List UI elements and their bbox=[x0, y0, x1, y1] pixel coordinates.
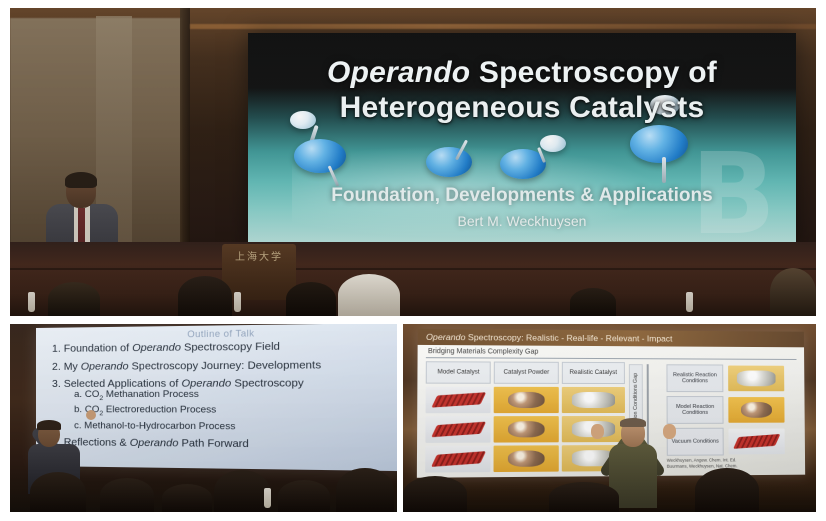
molecule-bond bbox=[662, 157, 666, 183]
grid-cell-powder bbox=[494, 445, 559, 472]
water-bottle bbox=[686, 292, 693, 312]
sub-letter: a. bbox=[74, 388, 82, 399]
slide-banner: Operando Spectroscopy: Realistic - Real-… bbox=[418, 329, 804, 348]
slide-subtitle: Foundation, Developments & Applications bbox=[248, 185, 796, 207]
condition-image-model bbox=[728, 397, 784, 423]
bottom-left-photo-outline: Outline of Talk 1. Foundation of Operand… bbox=[10, 324, 397, 512]
speaker-left-hand bbox=[591, 424, 604, 439]
speaker-hair bbox=[37, 420, 61, 430]
item-text-after: Spectroscopy Field bbox=[181, 340, 280, 353]
projection-screen-title-slide: B Operando bbox=[248, 33, 796, 245]
condition-image-realistic bbox=[728, 366, 784, 392]
item-italic: Operando bbox=[81, 360, 129, 372]
water-bottle bbox=[234, 292, 241, 312]
column-header-catalyst-powder: Catalyst Powder bbox=[494, 362, 558, 384]
audience-head bbox=[695, 468, 759, 512]
outline-sub-item-b: b. CO2 Electroreduction Process bbox=[74, 405, 397, 419]
item-number: 1. bbox=[52, 343, 61, 355]
condition-row-realistic: Realistic Reaction Conditions bbox=[666, 364, 794, 392]
wood-panelling bbox=[10, 242, 816, 316]
grid-cell-model bbox=[425, 446, 491, 473]
sub-text: Methanation Process bbox=[103, 388, 199, 399]
slide-title: Operando Spectroscopy of Heterogeneous C… bbox=[248, 55, 796, 126]
slide-title-line1-rest: Spectroscopy of bbox=[479, 56, 717, 89]
molecule-atom-large bbox=[294, 139, 346, 173]
condition-row-model: Model Reaction Conditions bbox=[667, 396, 796, 424]
bottom-right-photo-complexity-gap: Operando Spectroscopy: Realistic - Real-… bbox=[403, 324, 816, 512]
reaction-conditions-column: Realistic Reaction Conditions Model Reac… bbox=[666, 364, 795, 456]
sub-formula: CO bbox=[85, 388, 99, 399]
outline-sub-item-a: a. CO2 Methanation Process bbox=[74, 389, 397, 403]
slide-title-line2: Heterogeneous Catalysts bbox=[340, 91, 705, 124]
grid-cell-model bbox=[425, 416, 491, 443]
audience-head bbox=[162, 484, 212, 512]
lectern: 上海大学 bbox=[222, 244, 296, 300]
item-text-after: Spectroscopy Journey: Developments bbox=[129, 358, 322, 372]
item-number: 2. bbox=[52, 360, 61, 372]
projection-screen-outline-slide: Outline of Talk 1. Foundation of Operand… bbox=[36, 324, 397, 471]
condition-label-realistic: Realistic Reaction Conditions bbox=[666, 364, 723, 392]
outline-sub-item-c: c. Methanol-to-Hydrocarbon Process bbox=[74, 421, 397, 433]
wood-trim bbox=[190, 24, 816, 29]
outline-item-4: 4. Reflections & Operando Path Forward bbox=[52, 438, 397, 452]
speaker-hand bbox=[86, 410, 96, 420]
outline-sub-list: a. CO2 Methanation Process b. CO2 Electr… bbox=[52, 389, 397, 433]
audience-head bbox=[278, 480, 330, 512]
audience-head bbox=[100, 478, 154, 512]
grid-cell-powder bbox=[494, 387, 558, 413]
condition-image-vacuum bbox=[728, 429, 784, 455]
molecule-graphic-2 bbox=[426, 133, 496, 183]
slide-title-operando: Operando bbox=[327, 56, 470, 89]
audience-head bbox=[570, 288, 616, 316]
slide-banner-rest: Spectroscopy: Realistic - Real-life - Re… bbox=[465, 332, 672, 343]
slide-banner-operando: Operando bbox=[426, 332, 466, 342]
item-text-before: Foundation of bbox=[64, 342, 132, 355]
slide-divider bbox=[426, 357, 797, 360]
speaker-hair bbox=[65, 172, 97, 188]
audience-head bbox=[770, 268, 816, 316]
audience-head bbox=[48, 282, 100, 316]
audience-head bbox=[336, 468, 394, 512]
audience-head bbox=[338, 274, 400, 316]
audience-head bbox=[403, 476, 467, 512]
audience-head bbox=[286, 282, 336, 316]
water-bottle bbox=[28, 292, 35, 312]
condition-row-vacuum: Vacuum Conditions bbox=[667, 428, 796, 456]
item-text-before: My bbox=[64, 360, 81, 372]
slide-author: Bert M. Weckhuysen bbox=[248, 213, 796, 229]
grid-cell-model bbox=[426, 387, 491, 414]
audience-head bbox=[178, 276, 232, 316]
grid-cell-powder bbox=[494, 416, 559, 442]
molecule-atom-large bbox=[630, 125, 688, 163]
item-italic: Operando bbox=[130, 437, 179, 450]
item-text-after: Spectroscopy bbox=[231, 377, 304, 390]
column-header-model-catalyst: Model Catalyst bbox=[426, 361, 491, 384]
column-header-realistic-catalyst: Realistic Catalyst bbox=[561, 362, 624, 384]
item-number: 3. bbox=[52, 378, 61, 390]
outline-item-1: 1. Foundation of Operando Spectroscopy F… bbox=[52, 340, 397, 354]
grid-cell-realistic bbox=[561, 387, 624, 413]
outline-item-2: 2. My Operando Spectroscopy Journey: Dev… bbox=[52, 359, 397, 372]
sub-text: Electroreduction Process bbox=[103, 404, 216, 416]
molecule-graphic-3 bbox=[500, 135, 580, 187]
sub-letter: b. bbox=[74, 404, 82, 415]
top-photo-lecture-hall: B Operando bbox=[10, 8, 816, 316]
item-italic: Operando bbox=[132, 341, 181, 354]
outline-item-3: 3. Selected Applications of Operando Spe… bbox=[52, 378, 397, 433]
molecule-atom-small bbox=[540, 135, 566, 152]
audience-head bbox=[214, 470, 270, 512]
speaker-right-hand bbox=[663, 424, 676, 439]
slide-subtitle: Bridging Materials Complexity Gap bbox=[428, 348, 538, 356]
audience-head bbox=[549, 482, 619, 512]
outline-list: 1. Foundation of Operando Spectroscopy F… bbox=[36, 340, 397, 452]
sub-text: Methanol-to-Hydrocarbon Process bbox=[84, 420, 235, 432]
photo-collage: B Operando bbox=[0, 0, 826, 521]
speaker-hair bbox=[620, 418, 646, 427]
water-bottle bbox=[264, 488, 271, 508]
outline-slide-title: Outline of Talk bbox=[36, 326, 397, 341]
molecule-atom-large bbox=[426, 147, 472, 177]
audience-head bbox=[30, 472, 86, 512]
item-text-after: Path Forward bbox=[178, 438, 248, 451]
lectern-plaque: 上海大学 bbox=[228, 250, 290, 266]
